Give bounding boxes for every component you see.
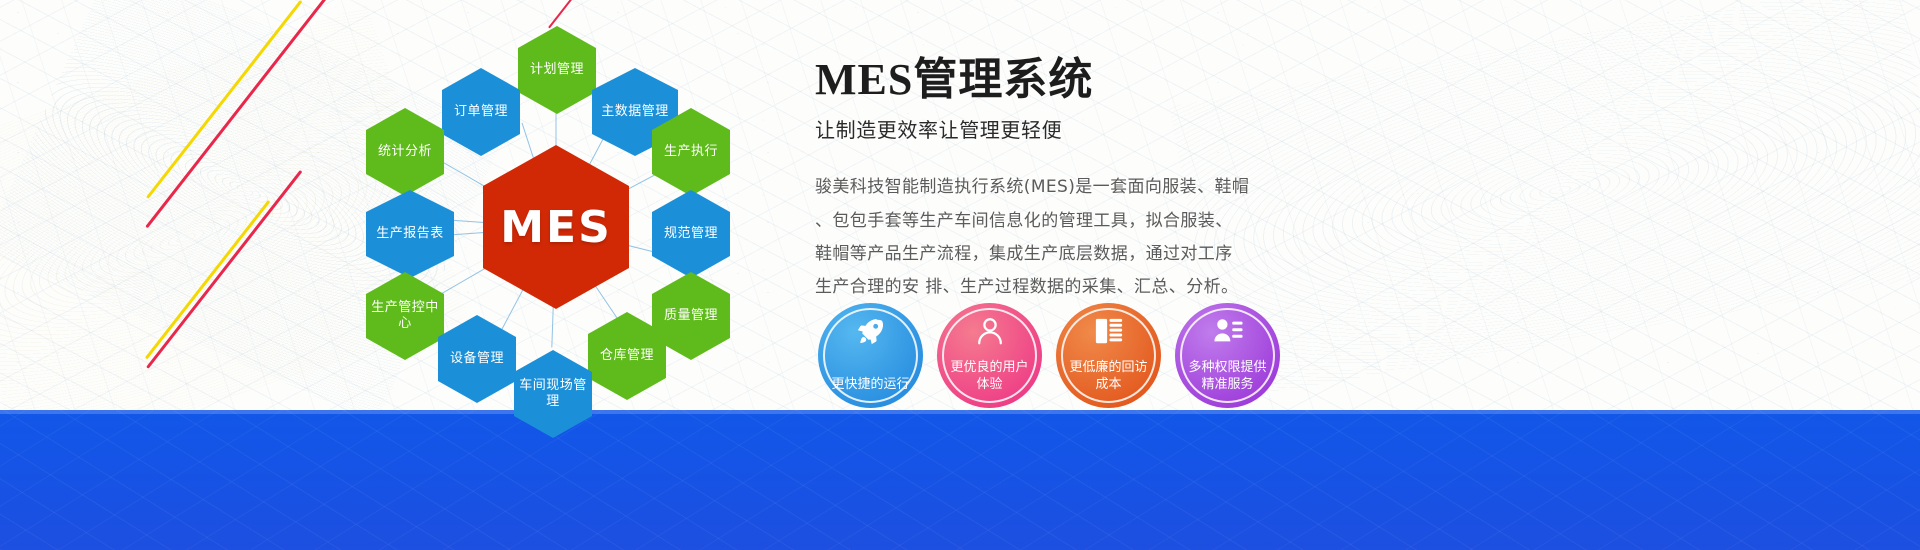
feature-badge-row: 更快捷的运行 更优良的用户 体验 bbox=[818, 303, 1280, 408]
hex-label: 订单管理 bbox=[454, 104, 508, 120]
bottom-band-texture bbox=[0, 410, 1920, 550]
hex-label: MES bbox=[500, 200, 612, 255]
hex-node-production-control-center[interactable]: 生产管控中心 bbox=[366, 272, 444, 360]
hex-node-production-report[interactable]: 生产报告表 bbox=[366, 190, 454, 278]
hex-node-planning[interactable]: 计划管理 bbox=[518, 26, 596, 114]
description-block: 骏美科技智能制造执行系统(MES)是一套面向服装、鞋帽 、包包手套等生产车间信息… bbox=[815, 171, 1270, 304]
hex-label: 计划管理 bbox=[530, 62, 584, 78]
badge-text: 多种权限提供 精准服务 bbox=[1180, 359, 1274, 394]
badge-text: 更快捷的运行 bbox=[823, 376, 917, 394]
description-line-1: 骏美科技智能制造执行系统(MES)是一套面向服装、鞋帽 bbox=[815, 171, 1270, 204]
hex-node-statistics[interactable]: 统计分析 bbox=[366, 108, 444, 196]
hex-label: 生产报告表 bbox=[376, 226, 444, 242]
feature-badge-better-experience[interactable]: 更优良的用户 体验 bbox=[937, 303, 1042, 408]
hex-label: 设备管理 bbox=[450, 351, 504, 367]
badge-line-2: 精准服务 bbox=[1201, 377, 1253, 392]
description-line-3: 鞋帽等产品生产流程，集成生产底层数据，通过对工序 bbox=[815, 238, 1270, 271]
rocket-icon bbox=[856, 316, 886, 346]
hex-label: 主数据管理 bbox=[601, 104, 669, 120]
hex-node-workshop-site[interactable]: 车间现场管理 bbox=[514, 350, 592, 438]
feature-badge-lower-cost[interactable]: 更低廉的回访 成本 bbox=[1056, 303, 1161, 408]
hex-label: 车间现场管理 bbox=[518, 378, 588, 411]
hex-label: 仓库管理 bbox=[600, 348, 654, 364]
page-title: MES管理系统 bbox=[815, 56, 1535, 104]
description-line-4: 生产合理的安 排、生产过程数据的采集、汇总、分析。 bbox=[815, 271, 1270, 304]
badge-line-1: 更低廉的回访 bbox=[1069, 360, 1147, 375]
hex-label: 生产管控中心 bbox=[370, 300, 440, 333]
mes-banner: MES 计划管理 订单管理 主数据管理 统计分析 生产执行 生产报告表 规范管理… bbox=[0, 0, 1920, 550]
page-subtitle: 让制造更效率让管理更轻便 bbox=[815, 114, 1535, 143]
badge-line-1: 更优良的用户 bbox=[950, 360, 1028, 375]
content-column: MES管理系统 让制造更效率让管理更轻便 骏美科技智能制造执行系统(MES)是一… bbox=[815, 56, 1535, 304]
hex-label: 统计分析 bbox=[378, 144, 432, 160]
badge-text: 更低廉的回访 成本 bbox=[1061, 359, 1155, 394]
badge-line-2: 体验 bbox=[976, 377, 1002, 392]
hex-node-standard-mgmt[interactable]: 规范管理 bbox=[652, 190, 730, 278]
hex-node-equipment[interactable]: 设备管理 bbox=[438, 315, 516, 403]
user-icon bbox=[975, 316, 1005, 346]
hex-label: 生产执行 bbox=[664, 144, 718, 160]
badge-text: 更优良的用户 体验 bbox=[942, 359, 1036, 394]
hex-node-center-mes[interactable]: MES bbox=[483, 145, 629, 309]
money-icon bbox=[1094, 316, 1124, 346]
permission-icon bbox=[1213, 316, 1243, 346]
hex-label: 规范管理 bbox=[664, 226, 718, 242]
badge-line-1: 更快捷的运行 bbox=[831, 377, 909, 392]
feature-badge-faster-operation[interactable]: 更快捷的运行 bbox=[818, 303, 923, 408]
description-line-2: 、包包手套等生产车间信息化的管理工具，拟合服装、 bbox=[815, 205, 1270, 238]
feature-badge-permissions[interactable]: 多种权限提供 精准服务 bbox=[1175, 303, 1280, 408]
hex-label: 质量管理 bbox=[664, 308, 718, 324]
hex-node-order[interactable]: 订单管理 bbox=[442, 68, 520, 156]
badge-line-1: 多种权限提供 bbox=[1188, 360, 1266, 375]
mes-hexagon-diagram: MES 计划管理 订单管理 主数据管理 统计分析 生产执行 生产报告表 规范管理… bbox=[330, 0, 790, 440]
badge-line-2: 成本 bbox=[1095, 377, 1121, 392]
